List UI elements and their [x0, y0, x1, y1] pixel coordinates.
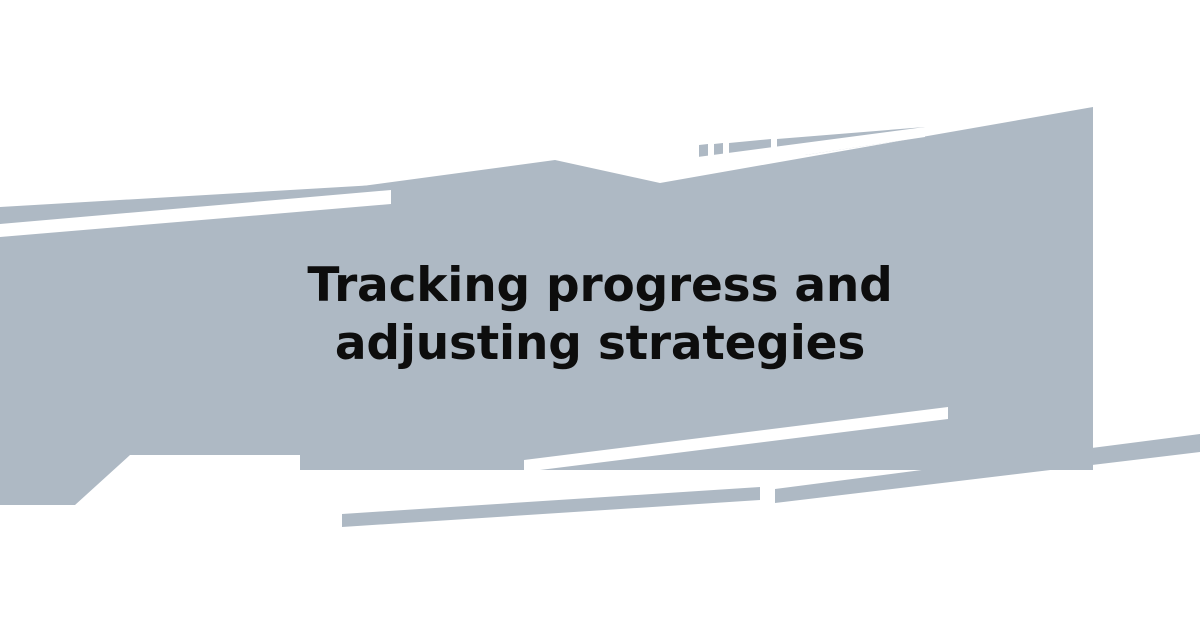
- decorative-background-graphic: [0, 0, 1200, 630]
- bottom-detached-bar: [342, 487, 760, 527]
- banner-card: Tracking progress and adjusting strategi…: [0, 0, 1200, 630]
- main-shape: [0, 107, 1093, 505]
